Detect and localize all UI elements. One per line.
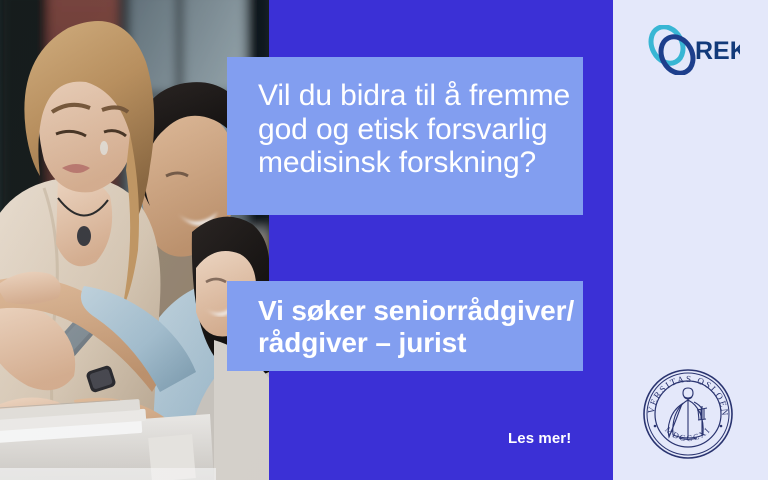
question-line-1: Vil du bidra til å fremme (258, 79, 563, 113)
rek-wordmark: REK (695, 37, 740, 65)
question-line-3: medisinsk forskning? (258, 146, 563, 180)
role-line-1: Vi søker seniorrådgiver/ (258, 295, 563, 327)
question-card: Vil du bidra til å fremme god og etisk f… (227, 57, 583, 215)
role-card: Vi søker seniorrådgiver/ rådgiver – juri… (227, 281, 583, 371)
read-more-link[interactable]: Les mer! (508, 430, 571, 447)
role-line-2: rådgiver – jurist (258, 327, 563, 359)
seal-top-text: UNIVERSITAS OSLOENSIS (638, 364, 730, 417)
job-advert-banner: Vil du bidra til å fremme god og etisk f… (0, 0, 768, 480)
uio-seal: UNIVERSITAS OSLOENSIS MDCCCXI (638, 364, 738, 464)
question-line-2: god og etisk forsvarlig (258, 113, 563, 147)
rek-logo: REK (645, 24, 740, 76)
